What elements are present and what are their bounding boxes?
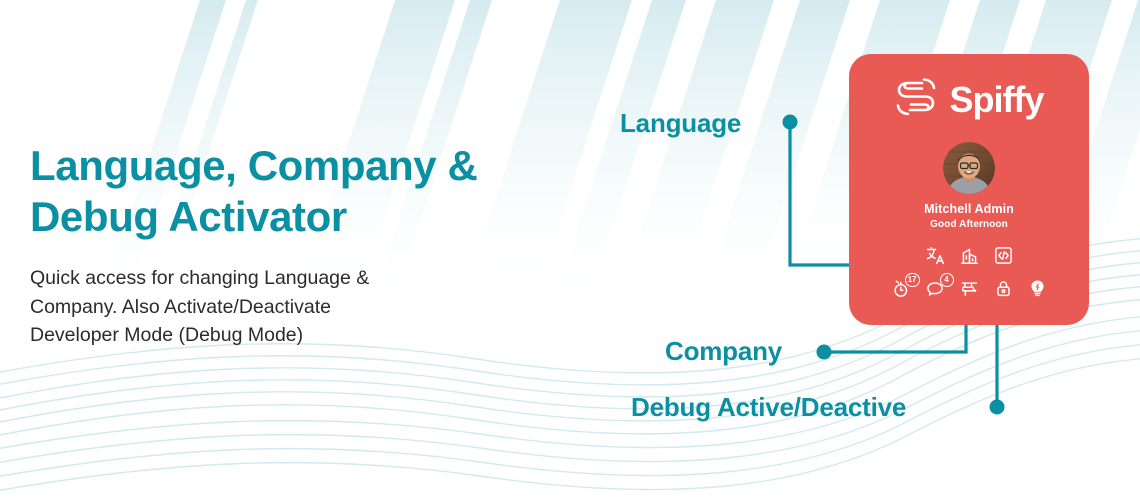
brand-row: Spiffy [894,75,1043,124]
lightbulb-icon[interactable] [1028,279,1047,303]
greeting-text: Good Afternoon [930,219,1008,230]
code-brackets-icon[interactable] [994,246,1013,270]
spiffy-user-menu-card[interactable]: Spiffy [849,54,1089,325]
user-name: Mitchell Admin [924,202,1014,216]
chat-badge: 4 [940,273,954,287]
brand-name: Spiffy [949,82,1043,118]
chat-bubble-icon[interactable]: 4 [926,279,945,303]
secondary-icon-row: 17 4 [892,279,1047,303]
spiffy-s-logo-icon [894,75,940,124]
building-icon[interactable] [960,246,979,270]
avatar[interactable] [943,142,995,194]
primary-icon-row [926,246,1013,270]
clock-badge: 17 [905,273,920,287]
clock-icon[interactable]: 17 [892,279,911,303]
lock-icon[interactable] [994,279,1013,303]
translate-icon[interactable] [926,246,945,270]
filter-icon[interactable] [960,279,979,303]
